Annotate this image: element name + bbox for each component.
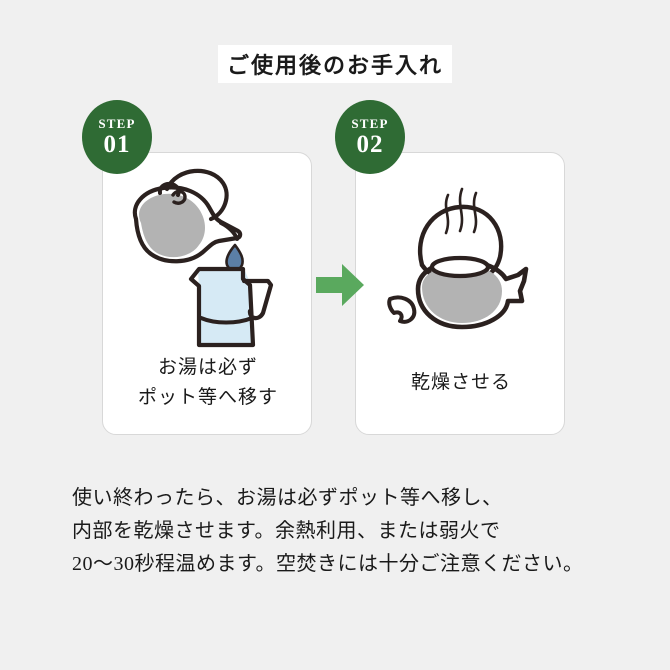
description-line-2: 内部を乾燥させます。余熱利用、または弱火で: [72, 515, 612, 548]
step-02-label: 乾燥させる: [356, 368, 566, 398]
description-line-3: 20〜30秒程温めます。空焚きには十分ご注意ください。: [72, 548, 612, 581]
step-01-label-line-1: お湯は必ず: [103, 353, 313, 383]
step-card-01: お湯は必ず ポット等へ移す: [102, 152, 312, 435]
step-badge-02: STEP 02: [335, 100, 405, 174]
right-arrow-icon: [316, 262, 364, 308]
step-badge-01-number: 01: [104, 131, 131, 158]
step-badge-01: STEP 01: [82, 100, 152, 174]
step-badge-02-number: 02: [357, 131, 384, 158]
step-01-label-line-2: ポット等へ移す: [103, 383, 313, 413]
step-02-label-line-1: 乾燥させる: [356, 368, 566, 398]
step-01-label: お湯は必ず ポット等へ移す: [103, 353, 313, 413]
page-title-banner: ご使用後のお手入れ: [218, 45, 452, 83]
step-badge-02-word: STEP: [351, 116, 388, 131]
step-02-illustration: [356, 161, 566, 356]
step-01-illustration: [103, 161, 313, 356]
care-instructions-page: ご使用後のお手入れ: [0, 0, 670, 670]
step-badge-01-word: STEP: [98, 116, 135, 131]
step-card-02: 乾燥させる: [355, 152, 565, 435]
description-line-1: 使い終わったら、お湯は必ずポット等へ移し、: [72, 482, 612, 515]
page-title: ご使用後のお手入れ: [227, 48, 443, 80]
description-paragraph: 使い終わったら、お湯は必ずポット等へ移し、 内部を乾燥させます。余熱利用、または…: [72, 482, 612, 581]
